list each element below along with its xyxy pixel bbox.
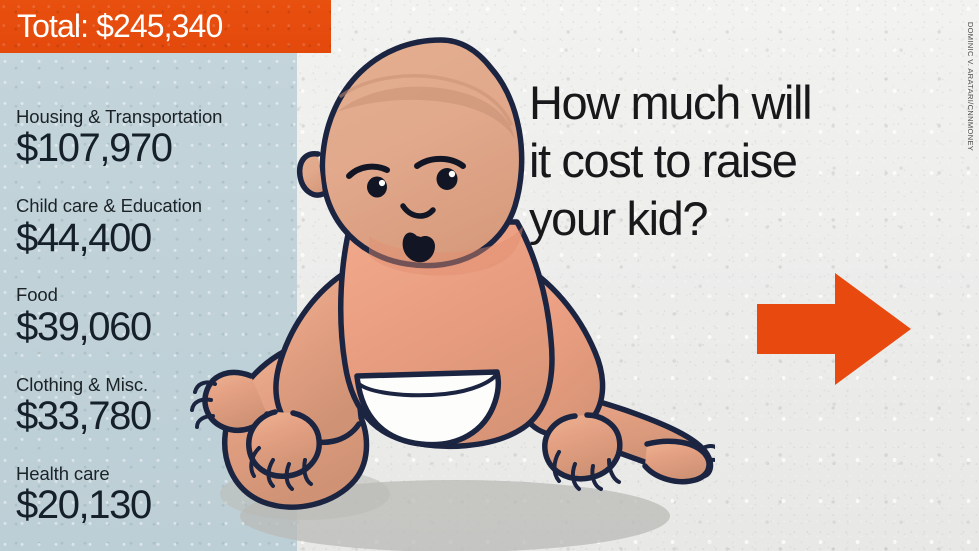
arrow-right-icon[interactable] [757,273,911,385]
headline-line-1: How much will [529,74,929,132]
infographic-slide: Housing & Transportation $107,970 Child … [0,0,979,551]
headline-line-2: it cost to raise [529,132,929,190]
photo-credit-text: DOMINIC V. ARATARI/CNNMONEY [967,22,976,151]
photo-credit: DOMINIC V. ARATARI/CNNMONEY [964,4,978,174]
next-arrow-button[interactable] [757,273,911,385]
page-title: How much will it cost to raise your kid? [529,74,929,248]
total-banner: Total: $245,340 [0,0,331,53]
headline-line-3: your kid? [529,190,929,248]
total-label: Total: $245,340 [0,8,222,45]
